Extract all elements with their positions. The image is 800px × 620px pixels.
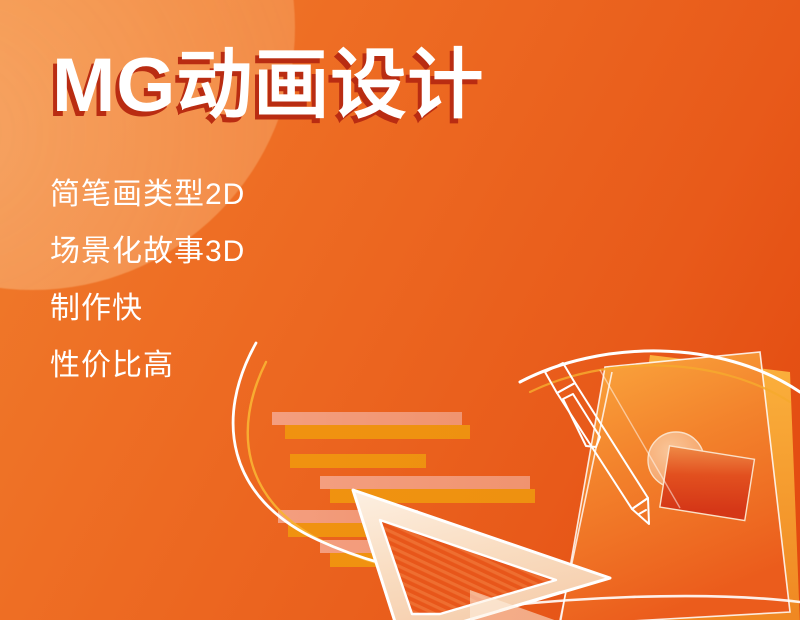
mg-animation-banner: MG动画设计 简笔画类型2D 场景化故事3D 制作快 性价比高 [0,0,800,620]
bar-pink-3 [320,476,530,489]
bar-orange-1 [285,425,470,439]
bar-pink-1 [272,412,462,425]
shape-rectangle [660,446,755,521]
design-tools-illustration [0,0,800,620]
bar-orange-2 [290,454,426,468]
